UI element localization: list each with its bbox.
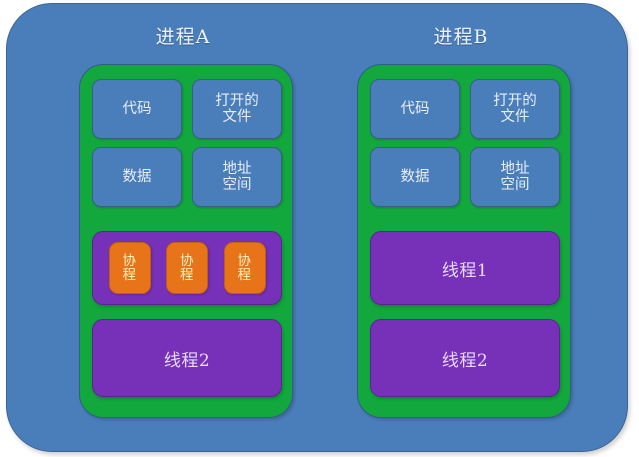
resource-box-open-files: 打开的 文件 xyxy=(470,79,560,139)
thread-box-with-coroutines: 协 程 协 程 协 程 xyxy=(92,231,282,305)
process-b-title: 进程B xyxy=(345,22,577,49)
resource-box-code: 代码 xyxy=(370,79,460,139)
thread-box-thread1: 线程1 xyxy=(370,231,560,305)
process-a-body: 代码 打开的 文件 数据 地址 空间 协 程 协 程 协 程 线程2 xyxy=(79,64,293,418)
thread-box-thread2: 线程2 xyxy=(92,319,282,397)
process-a-resources: 代码 打开的 文件 数据 地址 空间 xyxy=(92,79,282,207)
coroutine-chip: 协 程 xyxy=(224,242,266,294)
resource-box-address-space: 地址 空间 xyxy=(470,147,560,207)
process-group-container: 进程A 代码 打开的 文件 数据 地址 空间 协 程 协 程 协 程 线程2 进… xyxy=(6,3,628,452)
coroutine-chip: 协 程 xyxy=(166,242,208,294)
process-a: 进程A 代码 打开的 文件 数据 地址 空间 协 程 协 程 协 程 线程2 xyxy=(67,10,299,447)
process-b-body: 代码 打开的 文件 数据 地址 空间 线程1 线程2 xyxy=(357,64,571,418)
resource-box-address-space: 地址 空间 xyxy=(192,147,282,207)
thread-box-thread2: 线程2 xyxy=(370,319,560,397)
coroutine-chip: 协 程 xyxy=(109,242,151,294)
diagram-canvas: 进程A 代码 打开的 文件 数据 地址 空间 协 程 协 程 协 程 线程2 进… xyxy=(0,0,639,457)
resource-box-open-files: 打开的 文件 xyxy=(192,79,282,139)
process-a-title: 进程A xyxy=(67,22,299,49)
resource-box-data: 数据 xyxy=(370,147,460,207)
process-b: 进程B 代码 打开的 文件 数据 地址 空间 线程1 线程2 xyxy=(345,10,577,447)
process-b-resources: 代码 打开的 文件 数据 地址 空间 xyxy=(370,79,560,207)
resource-box-data: 数据 xyxy=(92,147,182,207)
resource-box-code: 代码 xyxy=(92,79,182,139)
